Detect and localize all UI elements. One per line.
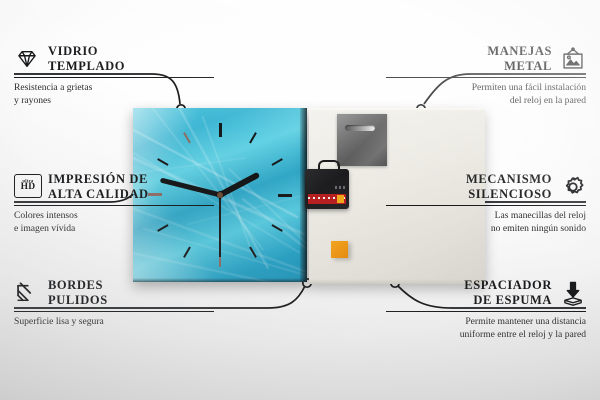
callout-manejas-metal: MANEJAS METAL Permiten una fácil instala… (386, 44, 586, 107)
callout-title-line1: IMPRESIÓN DE (48, 172, 149, 187)
callout-rule (386, 311, 586, 313)
callout-title: BORDES PULIDOS (48, 278, 108, 308)
polished-edges-icon (14, 280, 40, 306)
callout-desc-line2: del reloj en la pared (386, 95, 586, 107)
callout-description: Colores intensos e imagen vívida (14, 210, 214, 235)
callout-rule (14, 77, 214, 79)
callout-title: MANEJAS METAL (487, 44, 552, 74)
gear-icon (560, 174, 586, 200)
callout-desc-line1: Resistencia a grietas (14, 82, 214, 94)
clock-center-pin (217, 192, 223, 198)
callout-header: ESPACIADOR DE ESPUMA (386, 278, 586, 308)
callout-desc-line1: Superficie lisa y segura (14, 316, 214, 328)
mechanism-body (305, 169, 349, 209)
callout-title-line2: SILENCIOSO (466, 187, 552, 202)
callout-title: MECANISMO SILENCIOSO (466, 172, 552, 202)
callout-description: Permiten una fácil instalación del reloj… (386, 82, 586, 107)
callout-title: IMPRESIÓN DE ALTA CALIDAD (48, 172, 149, 202)
clock-second-hand (219, 191, 220, 257)
diamond-icon (14, 46, 40, 72)
callout-rule (14, 205, 214, 207)
callout-header: VIDRIO TEMPLADO (14, 44, 214, 74)
callout-description: Resistencia a grietas y rayones (14, 82, 214, 107)
ultra-hd-icon: ultra HD (14, 174, 40, 200)
down-arrow-pad-icon (560, 280, 586, 306)
callout-title-line2: TEMPLADO (48, 59, 125, 74)
clock-tick-12 (219, 121, 221, 195)
callout-header: BORDES PULIDOS (14, 278, 214, 308)
callout-title-line1: BORDES (48, 278, 108, 293)
callout-description: Superficie lisa y segura (14, 316, 214, 328)
picture-frame-hanger-icon (560, 46, 586, 72)
callout-header: MECANISMO SILENCIOSO (386, 172, 586, 202)
callout-desc-line1: Permiten una fácil instalación (386, 82, 586, 94)
callout-impresion-alta-calidad: ultra HD IMPRESIÓN DE ALTA CALIDAD Color… (14, 172, 214, 235)
callout-vidrio-templado: VIDRIO TEMPLADO Resistencia a grietas y … (14, 44, 214, 107)
callout-desc-line2: e imagen vívida (14, 223, 214, 235)
foam-spacer (331, 241, 348, 258)
clock-tick-3 (220, 194, 294, 196)
callout-title-line1: ESPACIADOR (464, 278, 552, 293)
callout-desc-line1: Permite mantener una distancia (386, 316, 586, 328)
callout-header: ultra HD IMPRESIÓN DE ALTA CALIDAD (14, 172, 214, 202)
callout-title-line1: MANEJAS (487, 44, 552, 59)
callout-rule (386, 205, 586, 207)
battery-label (308, 194, 346, 204)
hanger-slot (345, 125, 375, 131)
callout-desc-line2: uniforme entre el reloj y la pared (386, 329, 586, 341)
callout-desc-line2: y rayones (14, 95, 214, 107)
callout-title-line1: VIDRIO (48, 44, 125, 59)
callout-description: Permite mantener una distancia uniforme … (386, 316, 586, 341)
callout-desc-line2: no emiten ningún sonido (386, 223, 586, 235)
callout-title-line2: METAL (487, 59, 552, 74)
callout-rule (14, 311, 214, 313)
callout-espaciador-espuma: ESPACIADOR DE ESPUMA Permite mantener un… (386, 278, 586, 341)
metal-hanger-plate (337, 114, 387, 166)
mechanism-label-dots (335, 186, 345, 189)
callout-mecanismo-silencioso: MECANISMO SILENCIOSO Las manecillas del … (386, 172, 586, 235)
callout-desc-line1: Colores intensos (14, 210, 214, 222)
callout-description: Las manecillas del reloj no emiten ningú… (386, 210, 586, 235)
clock-mechanism (305, 165, 349, 209)
ultra-hd-icon-large-text: HD (21, 183, 36, 193)
callout-title: ESPACIADOR DE ESPUMA (464, 278, 552, 308)
callout-title-line2: ALTA CALIDAD (48, 187, 149, 202)
callout-title-line2: PULIDOS (48, 293, 108, 308)
callout-title-line1: MECANISMO (466, 172, 552, 187)
back-top-edge (309, 108, 485, 111)
infographic-canvas: VIDRIO TEMPLADO Resistencia a grietas y … (0, 0, 600, 400)
callout-rule (386, 77, 586, 79)
callout-title-line2: DE ESPUMA (464, 293, 552, 308)
callout-bordes-pulidos: BORDES PULIDOS Superficie lisa y segura (14, 278, 214, 329)
callout-title: VIDRIO TEMPLADO (48, 44, 125, 74)
callout-header: MANEJAS METAL (386, 44, 586, 74)
callout-desc-line1: Las manecillas del reloj (386, 210, 586, 222)
